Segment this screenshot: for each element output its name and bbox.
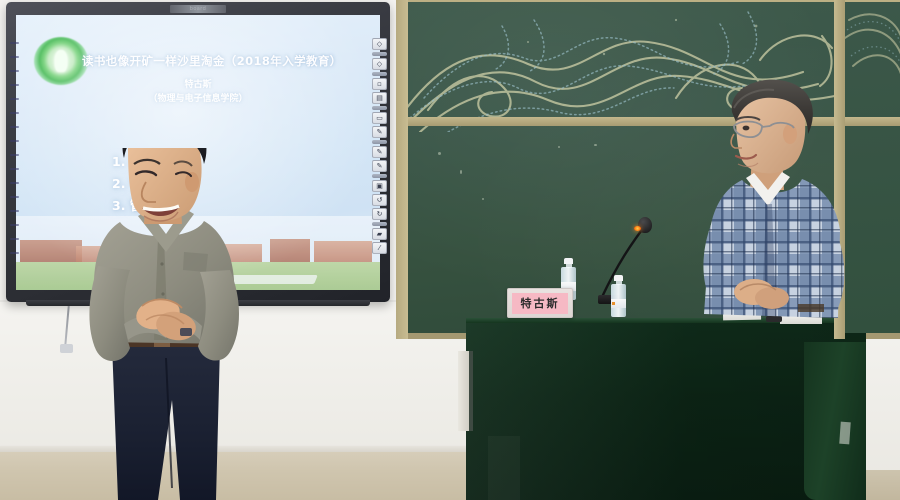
marker-icon[interactable]: ✎ [372,160,387,172]
applauding-figure-icon [84,148,260,500]
microphone-capsule [638,217,652,233]
vertical-ruler-scale [10,42,19,257]
shapes-icon[interactable]: ◇ [372,58,387,70]
applauding-person [84,148,260,500]
chalk-dust [460,170,462,174]
eraser-icon[interactable]: ▭ [372,112,387,124]
bottle-label-mark [612,302,615,305]
undo-icon[interactable]: ↺ [372,194,387,206]
slide-affiliation: （物理与电子信息学院） [16,91,380,104]
name-card-text: 特古斯 [512,293,568,314]
tablecloth-drape [804,342,866,500]
toolbar-divider [372,174,387,178]
toolbar-divider [372,72,387,76]
chalk-dust [482,198,484,200]
classroom-photo: board 读书也像开矿一样沙里淘金（2018年入学教育） 特古斯 （物理与电子… [0,0,900,500]
page-icon[interactable]: ▤ [372,92,387,104]
chalkboard-left-edge [396,0,408,339]
camera-icon[interactable]: ▰ [372,228,387,240]
chalk-dust [558,146,560,148]
microphone-status-led [634,226,641,231]
tablecloth-highlight [488,436,520,500]
toolbar-divider [372,222,387,226]
toolbar-divider [372,106,387,110]
table-left-edge [469,351,473,431]
speaker-person [690,78,866,338]
covered-lecture-table [466,318,886,500]
toolbar-divider [372,140,387,144]
speaker-name-card: 特古斯 [507,288,573,318]
save-icon[interactable]: ▣ [372,180,387,192]
whiteboard-toolbar[interactable]: ◇ ◇ ▫ ▤ ▭ ✎ ✎ ✎ ▣ ↺ ↻ ▰ ⁄ [371,38,388,268]
water-bottle [611,275,626,317]
chalk-dust [594,144,597,146]
whiteboard-brand-label: board [170,5,226,13]
slide-title: 读书也像开矿一样沙里淘金（2018年入学教育） [82,53,378,69]
chalk-dust [438,152,441,155]
slide-presenter-name: 特古斯 [16,77,380,90]
redo-icon[interactable]: ↻ [372,208,387,220]
link-icon[interactable]: ⁄ [372,242,387,254]
toolbar-divider [372,52,387,56]
emblem-inner-shape [55,50,68,72]
select-icon[interactable]: ▫ [372,78,387,90]
pen-thin-icon[interactable]: ✎ [372,146,387,158]
wall-socket [60,344,73,353]
speaker-figure-icon [690,78,866,338]
tablecloth-tape [839,422,851,445]
pen-icon[interactable]: ◇ [372,38,387,50]
highlighter-icon[interactable]: ✎ [372,126,387,138]
